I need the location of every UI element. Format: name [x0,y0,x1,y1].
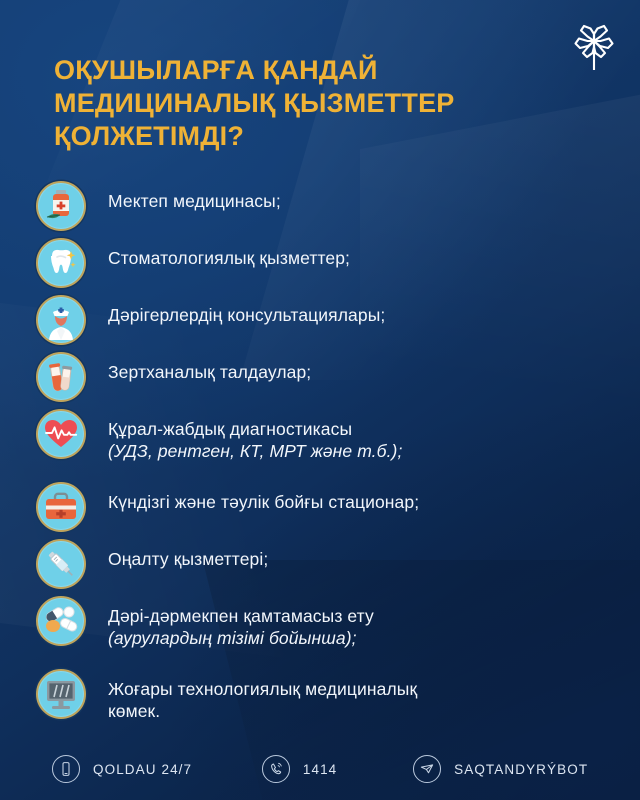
list-item-note: (УДЗ, рентген, КТ, МРТ және т.б.); [108,440,402,462]
list-item-text: Мектеп медицинасы; [108,190,281,212]
list-item-label: Күндізгі және тәулік бойғы стационар; [108,492,419,512]
footer-label-telegram-bot: SAQTANDYRÝBOT [454,762,588,777]
list-item-note: (аурулардың тізімі бойынша); [108,627,374,649]
list-item-text: Құрал-жабдық диагностикасы (УДЗ, рентген… [108,418,402,463]
smartphone-icon [52,755,80,783]
list-item-text: Дәрі-дәрмекпен қамтамасыз ету (ауруларды… [108,605,374,650]
list-item: Жоғары технологиялық медициналық көмек. [36,669,616,737]
list-item-text: Күндізгі және тәулік бойғы стационар; [108,491,419,513]
flower-emblem-logo [570,22,618,74]
tooth-icon [36,238,86,288]
poster-canvas: ОҚУШЫЛАРҒА ҚАНДАЙ МЕДИЦИНАЛЫҚ ҚЫЗМЕТТЕР … [0,0,640,800]
list-item-label: Зертханалық талдаулар; [108,362,311,382]
list-item-label: Мектеп медицинасы; [108,191,281,211]
list-item: Құрал-жабдық диагностикасы (УДЗ, рентген… [36,409,616,477]
list-item-text: Оңалту қызметтері; [108,548,268,570]
list-item-label: Дәрігерлердің консультациялары; [108,305,385,325]
footer-label-hotline: 1414 [303,762,337,777]
list-item-label: Стоматологиялық қызметтер; [108,248,350,268]
list-item: Зертханалық талдаулар; [36,352,616,404]
test-tubes-icon [36,352,86,402]
list-item-label: Жоғары технологиялық медициналық [108,678,417,700]
list-item-note: көмек. [108,700,417,722]
monitor-icon [36,669,86,719]
footer-contact-bar: QOLDAU 24/7 1414 SAQTANDYRÝBOT [0,738,640,800]
page-title: ОҚУШЫЛАРҒА ҚАНДАЙ МЕДИЦИНАЛЫҚ ҚЫЗМЕТТЕР … [54,54,574,154]
syringe-icon [36,539,86,589]
pills-icon [36,596,86,646]
list-item-label: Оңалту қызметтері; [108,549,268,569]
footer-item-qoldau[interactable]: QOLDAU 24/7 [52,755,262,783]
ringing-phone-icon [262,755,290,783]
nurse-icon [36,295,86,345]
list-item: Дәрігерлердің консультациялары; [36,295,616,347]
footer-item-telegram-bot[interactable]: SAQTANDYRÝBOT [413,755,640,783]
list-item-text: Стоматологиялық қызметтер; [108,247,350,269]
list-item-label: Құрал-жабдық диагностикасы [108,418,402,440]
heart-ecg-icon [36,409,86,459]
list-item: Оңалту қызметтері; [36,539,616,591]
list-item-text: Дәрігерлердің консультациялары; [108,304,385,326]
services-list: Мектеп медицинасы; Стоматологиялық қызме… [36,181,616,742]
paper-plane-icon [413,755,441,783]
list-item: Дәрі-дәрмекпен қамтамасыз ету (ауруларды… [36,596,616,664]
medical-bag-icon [36,482,86,532]
footer-label-qoldau: QOLDAU 24/7 [93,762,192,777]
list-item-text: Зертханалық талдаулар; [108,361,311,383]
list-item: Күндізгі және тәулік бойғы стационар; [36,482,616,534]
list-item: Стоматологиялық қызметтер; [36,238,616,290]
footer-item-hotline[interactable]: 1414 [262,755,413,783]
list-item-label: Дәрі-дәрмекпен қамтамасыз ету [108,605,374,627]
list-item-text: Жоғары технологиялық медициналық көмек. [108,678,417,723]
list-item: Мектеп медицинасы; [36,181,616,233]
medicine-bottle-icon [36,181,86,231]
